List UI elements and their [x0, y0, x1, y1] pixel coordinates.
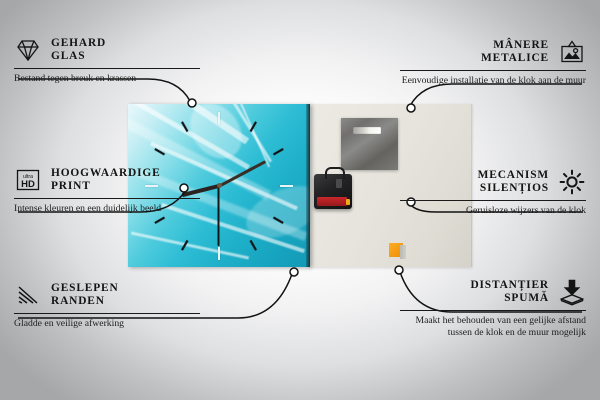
- clock-center-cap: [217, 183, 222, 188]
- svg-text:HD: HD: [21, 179, 35, 190]
- clock-movement: [314, 174, 352, 209]
- feature-title: DISTANȚIER SPUMĂ: [470, 279, 549, 306]
- feature-silent-mechanism: MECANISM SILENȚIOS Geruisloze wijzers va…: [400, 168, 586, 217]
- feature-divider: [14, 313, 200, 314]
- hanger-plate: [341, 118, 398, 170]
- feature-divider: [400, 200, 586, 201]
- feature-header: ultra HD HOOGWAARDIGE PRINT: [14, 166, 200, 194]
- feature-description: Bestand tegen breuk en krassen: [14, 73, 200, 85]
- connector-metal-handles: [410, 84, 582, 106]
- feature-description: Intense kleuren en een duidelijk beeld: [14, 203, 200, 215]
- feature-header: DISTANȚIER SPUMĂ: [400, 278, 586, 306]
- diamond-icon: [14, 36, 42, 64]
- feature-foam-spacer: DISTANȚIER SPUMĂ Maakt het behouden van …: [400, 278, 586, 338]
- feature-header: GESLEPEN RANDEN: [14, 281, 200, 309]
- feature-description: Maakt het behouden van een gelijke afsta…: [400, 315, 586, 338]
- feature-description: Gladde en veilige afwerking: [14, 318, 200, 330]
- infographic-canvas: GEHARD GLAS Bestand tegen breuk en krass…: [0, 0, 600, 400]
- feature-header: GEHARD GLAS: [14, 36, 200, 64]
- ultra-hd-icon: ultra HD: [14, 166, 42, 194]
- feature-header: MECANISM SILENȚIOS: [400, 168, 586, 196]
- feature-header: MÂNERE METALICE: [400, 38, 586, 66]
- feature-metal-handles: MÂNERE METALICE Eenvoudige installatie v…: [400, 38, 586, 87]
- down-arrow-slab-icon: [558, 278, 586, 306]
- foam-spacer-block: [389, 243, 403, 257]
- movement-hook: [325, 167, 345, 179]
- feature-title: GESLEPEN RANDEN: [51, 282, 119, 309]
- feature-divider: [400, 310, 586, 311]
- feature-tempered-glass: GEHARD GLAS Bestand tegen breuk en krass…: [14, 36, 200, 85]
- feature-title: MÂNERE METALICE: [481, 39, 549, 66]
- gear-icon: [558, 168, 586, 196]
- connector-dot-polished-edges: [290, 268, 298, 276]
- feature-divider: [14, 68, 200, 69]
- feature-title: GEHARD GLAS: [51, 37, 106, 64]
- movement-shaft: [336, 179, 342, 188]
- feature-title: HOOGWAARDIGE PRINT: [51, 167, 161, 194]
- feature-divider: [14, 198, 200, 199]
- movement-battery: [317, 197, 347, 206]
- feature-description: Geruisloze wijzers van de klok: [400, 205, 586, 217]
- connector-dot-foam-spacer: [395, 266, 403, 274]
- framed-picture-icon: [558, 38, 586, 66]
- feature-title: MECANISM SILENȚIOS: [478, 169, 549, 196]
- feature-polished-edges: GESLEPEN RANDEN Gladde en veilige afwerk…: [14, 281, 200, 330]
- feature-description: Eenvoudige installatie van de klok aan d…: [400, 75, 586, 87]
- feature-divider: [400, 70, 586, 71]
- beveled-edges-icon: [14, 281, 42, 309]
- feature-high-quality-print: ultra HD HOOGWAARDIGE PRINT Intense kleu…: [14, 166, 200, 215]
- hanger-slot: [353, 127, 381, 134]
